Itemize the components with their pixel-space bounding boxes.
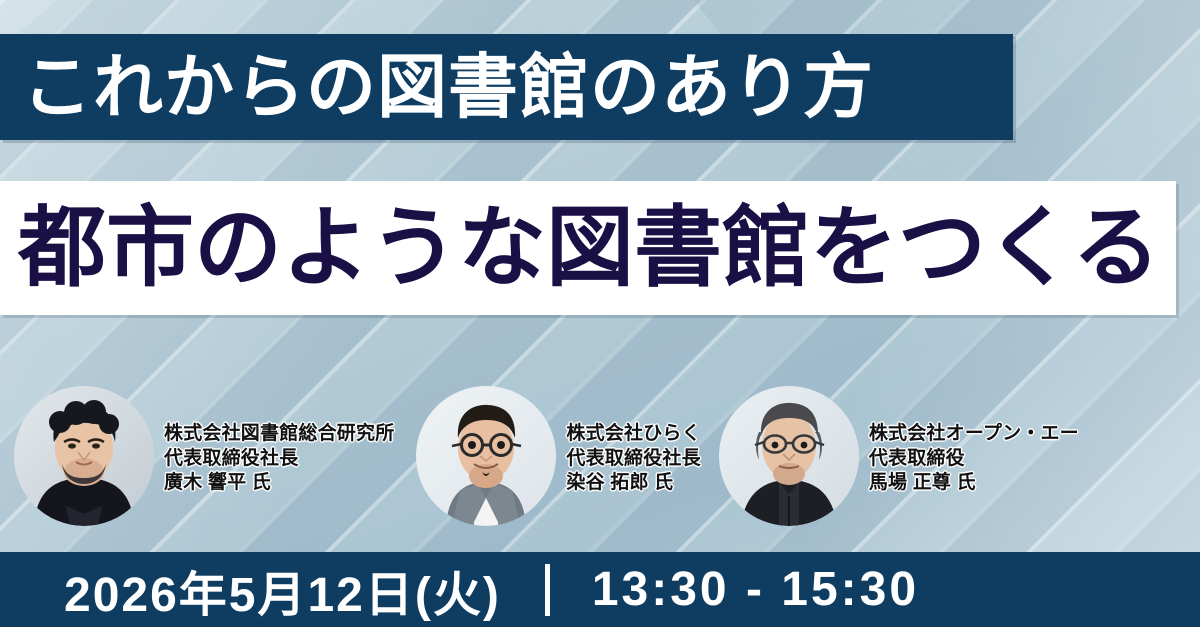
title-line-1: これからの図書館のあり方 bbox=[0, 52, 874, 122]
avatar bbox=[719, 386, 859, 526]
avatar bbox=[416, 386, 556, 526]
speaker-name: 馬場 正尊 氏 bbox=[869, 471, 1079, 496]
speaker-position: 代表取締役社長 bbox=[566, 447, 700, 472]
event-datetime-bar: 2026年5月12日(火) 13:30 - 15:30 bbox=[0, 552, 1200, 627]
speaker-company: 株式会社ひらく bbox=[566, 422, 700, 447]
title-band-primary: これからの図書館のあり方 bbox=[0, 34, 1013, 140]
speaker-name: 染谷 拓郎 氏 bbox=[566, 471, 700, 496]
datetime-divider bbox=[545, 564, 550, 616]
avatar bbox=[14, 386, 154, 526]
speaker-item: 株式会社オープン・エー 代表取締役 馬場 正尊 氏 bbox=[719, 382, 1079, 526]
speaker-company: 株式会社オープン・エー bbox=[869, 422, 1079, 447]
event-poster: これからの図書館のあり方 都市のような図書館をつくる bbox=[0, 0, 1200, 627]
speaker-item: 株式会社図書館総合研究所 代表取締役社長 廣木 響平 氏 bbox=[14, 382, 394, 526]
speaker-name: 廣木 響平 氏 bbox=[164, 471, 394, 496]
event-date: 2026年5月12日(火) bbox=[64, 555, 501, 625]
speaker-position: 代表取締役 bbox=[869, 447, 1079, 472]
portrait-hiroki-kyohei-icon bbox=[14, 386, 154, 526]
title-line-2: 都市のような図書館をつくる bbox=[0, 204, 1160, 292]
speaker-company: 株式会社図書館総合研究所 bbox=[164, 422, 394, 447]
portrait-baba-masataka-icon bbox=[719, 386, 859, 526]
event-time: 13:30 - 15:30 bbox=[592, 562, 919, 617]
speaker-position: 代表取締役社長 bbox=[164, 447, 394, 472]
speaker-details: 株式会社オープン・エー 代表取締役 馬場 正尊 氏 bbox=[869, 422, 1079, 496]
speaker-item: 株式会社ひらく 代表取締役社長 染谷 拓郎 氏 bbox=[416, 382, 700, 526]
title-band-secondary: 都市のような図書館をつくる bbox=[0, 181, 1176, 315]
speaker-details: 株式会社ひらく 代表取締役社長 染谷 拓郎 氏 bbox=[566, 422, 700, 496]
portrait-someya-takuro-icon bbox=[416, 386, 556, 526]
speaker-details: 株式会社図書館総合研究所 代表取締役社長 廣木 響平 氏 bbox=[164, 422, 394, 496]
speaker-list: 株式会社図書館総合研究所 代表取締役社長 廣木 響平 氏 bbox=[0, 382, 1200, 554]
